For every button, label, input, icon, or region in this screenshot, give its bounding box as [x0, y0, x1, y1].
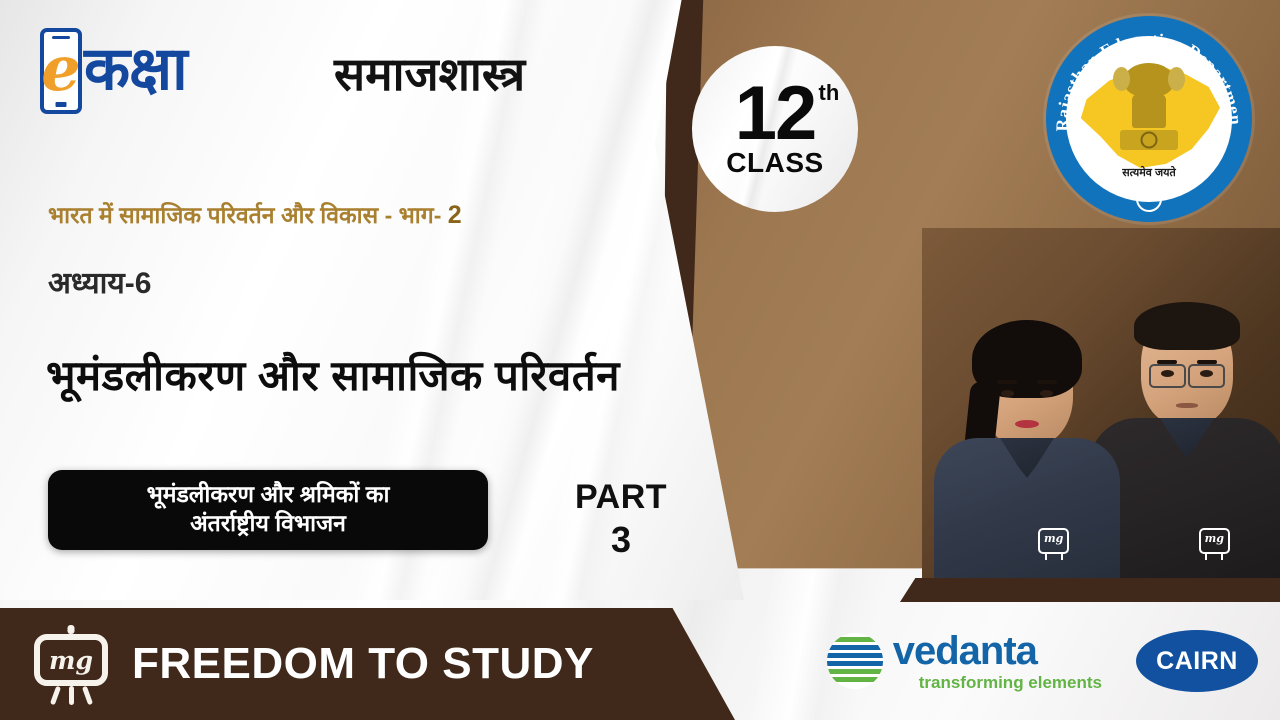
mg-shirt-badge: mg	[1038, 528, 1069, 554]
female-eye-right	[1040, 390, 1053, 397]
male-eye-right	[1200, 370, 1213, 377]
cairn-name: CAIRN	[1156, 647, 1238, 676]
topic-line-2: अंतर्राष्ट्रीय विभाजन	[56, 509, 480, 538]
vedanta-globe-icon	[827, 633, 883, 689]
subject-title: समाजशास्त्र	[334, 42, 525, 104]
video-title-slide: e कक्षा समाजशास्त्र भारत में सामाजिक परि…	[0, 0, 1280, 720]
female-brow-right	[1037, 380, 1057, 384]
vedanta-wordmark: vedanta transforming elements	[893, 631, 1102, 691]
topic-badge: भूमंडलीकरण और श्रमिकों का अंतर्राष्ट्रीय…	[48, 470, 488, 550]
ashoka-emblem-icon	[1113, 63, 1185, 169]
lion-head-icon	[1124, 63, 1174, 97]
footer: mg FREEDOM TO STUDY vedanta transformi	[0, 600, 1280, 720]
mg-easel-legs	[45, 686, 97, 706]
mg-logo: mg	[34, 634, 108, 694]
emblem-motto: सत्यमेव जयते	[1066, 165, 1232, 180]
female-eye-left	[1001, 390, 1014, 397]
class-ordinal-suffix: th	[819, 83, 840, 103]
topic-line-1: भूमंडलीकरण और श्रमिकों का	[56, 480, 480, 509]
glasses-icon	[1147, 364, 1227, 386]
female-collar	[1000, 438, 1054, 478]
male-collar	[1160, 418, 1214, 458]
male-eye-left	[1161, 370, 1174, 377]
phone-icon: e	[40, 28, 82, 114]
abacus-icon	[1120, 130, 1178, 150]
lion-body-icon	[1132, 94, 1166, 128]
class-number-value: 12	[735, 71, 816, 156]
footer-tagline: FREEDOM TO STUDY	[132, 639, 594, 689]
part-number: 3	[556, 519, 686, 561]
male-hair	[1134, 302, 1240, 350]
book-part-number: 2	[448, 201, 462, 229]
emblem-inner-disc: सत्यमेव जयते	[1066, 36, 1232, 202]
mg-logo-pin	[68, 625, 75, 634]
vedanta-tagline: transforming elements	[919, 674, 1102, 691]
mg-logo-text: mg	[49, 648, 93, 673]
book-title-text: भारत में सामाजिक परिवर्तन और विकास - भाग…	[48, 202, 441, 228]
page-title: भूमंडलीकरण और सामाजिक परिवर्तन	[46, 346, 620, 403]
footer-brand-bar: mg FREEDOM TO STUDY	[0, 608, 735, 720]
cairn-logo: CAIRN	[1136, 630, 1258, 692]
presenter-female: mg	[932, 330, 1122, 588]
male-mouth	[1176, 403, 1198, 408]
ekaksha-logo-word: कक्षा	[84, 39, 187, 99]
female-brow-left	[997, 380, 1017, 384]
part-label: PART	[556, 478, 686, 517]
sponsor-logos: vedanta transforming elements CAIRN	[740, 602, 1280, 720]
chapter-label: अध्याय-6	[48, 261, 151, 302]
ekaksha-logo: e कक्षा	[40, 28, 187, 114]
class-badge: 12th CLASS	[692, 46, 858, 212]
part-indicator: PART 3	[556, 478, 686, 561]
female-mouth	[1015, 420, 1039, 428]
mg-shirt-badge: mg	[1199, 528, 1230, 554]
female-shirt: mg	[934, 438, 1120, 588]
mg-board-icon: mg	[34, 634, 108, 686]
vedanta-logo: vedanta transforming elements	[827, 631, 1102, 691]
vedanta-name: vedanta	[893, 631, 1102, 671]
emblem-bottom-mark: 9	[1136, 186, 1162, 212]
rajasthan-education-department-logo: Rajasthan Education Department सत्यमेव ज…	[1046, 16, 1252, 222]
ekaksha-logo-e: e	[41, 38, 80, 100]
class-number: 12th	[735, 79, 816, 149]
book-title: भारत में सामाजिक परिवर्तन और विकास - भाग…	[48, 198, 462, 230]
male-head	[1141, 310, 1233, 426]
presenters-photo: mg mg	[922, 228, 1280, 588]
female-head	[981, 330, 1073, 446]
